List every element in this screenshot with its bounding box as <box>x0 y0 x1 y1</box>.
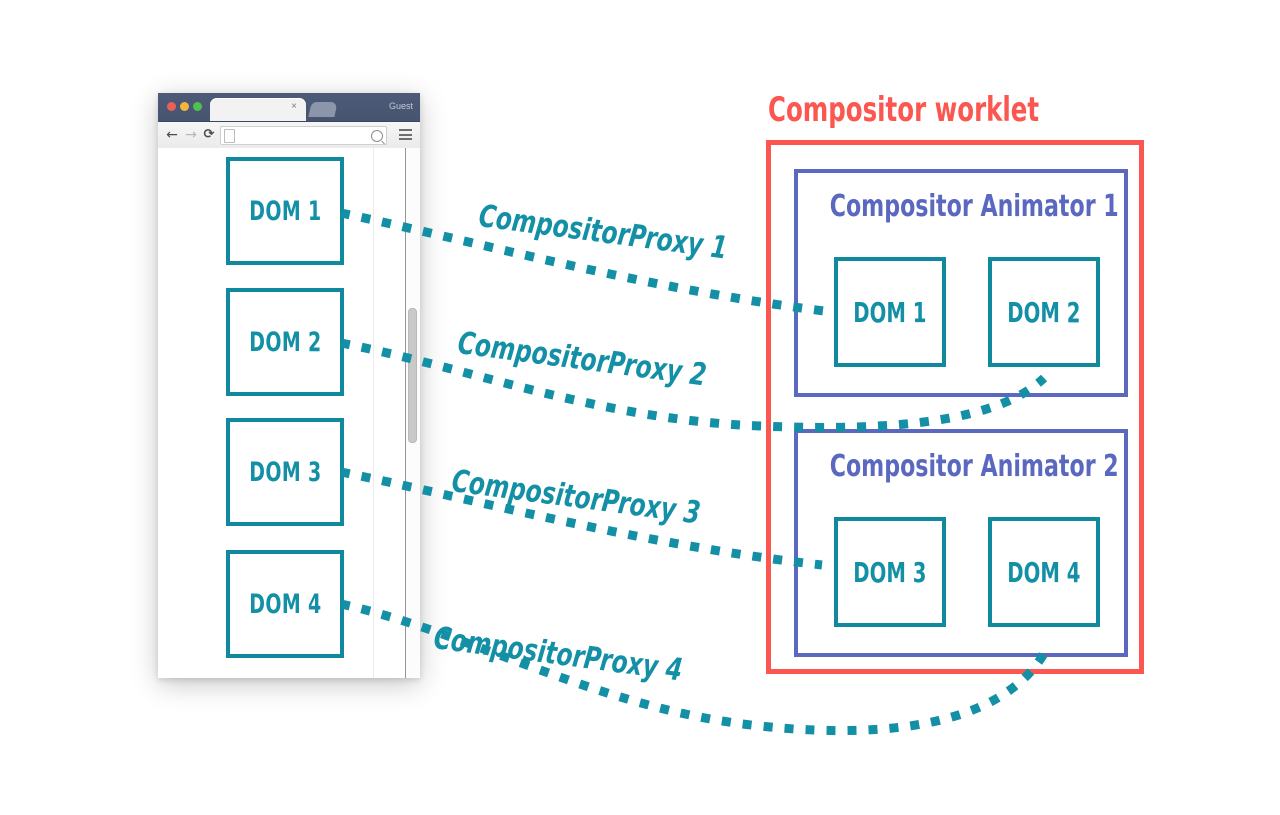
proxy-label-4: CompositorProxy 4 <box>432 620 732 695</box>
proxy-label-2: CompositorProxy 2 <box>456 325 756 400</box>
back-icon[interactable]: ← <box>164 127 180 143</box>
page-dom-box-4[interactable]: DOM 4 <box>226 550 344 658</box>
tab-close-icon[interactable]: × <box>289 102 299 112</box>
animator-1-dom-box-1-label: DOM 1 <box>853 296 926 329</box>
scrollbar-thumb[interactable] <box>408 308 417 443</box>
animator-2-dom-box-3[interactable]: DOM 3 <box>834 517 946 627</box>
worklet-title: Compositor worklet <box>768 90 1039 130</box>
page-dom-box-2[interactable]: DOM 2 <box>226 288 344 396</box>
diagram-canvas: × Guest ← → ⟳ DOM <box>0 0 1280 815</box>
animator-1-dom-box-1[interactable]: DOM 1 <box>834 257 946 367</box>
address-bar[interactable] <box>220 126 387 145</box>
compositor-animator-1-title: Compositor Animator 1 <box>798 189 1124 224</box>
window-minimize-dot[interactable] <box>180 102 189 111</box>
forward-icon[interactable]: → <box>183 127 199 143</box>
proxy-label-1: CompositorProxy 1 <box>477 198 777 273</box>
animator-2-dom-box-3-label: DOM 3 <box>853 556 926 589</box>
page-dom-box-1-label: DOM 1 <box>249 196 321 227</box>
page-dom-box-2-label: DOM 2 <box>249 327 321 358</box>
animator-2-dom-box-4[interactable]: DOM 4 <box>988 517 1100 627</box>
compositor-animator-2-title: Compositor Animator 2 <box>798 449 1124 484</box>
vertical-scrollbar[interactable] <box>406 148 420 678</box>
content-edge-line <box>373 148 374 678</box>
page-dom-box-4-label: DOM 4 <box>249 589 321 620</box>
animator-1-dom-box-2-label: DOM 2 <box>1007 296 1080 329</box>
hamburger-menu-icon[interactable] <box>399 129 412 140</box>
page-dom-box-3-label: DOM 3 <box>249 457 321 488</box>
window-zoom-dot[interactable] <box>193 102 202 111</box>
page-icon <box>224 129 235 143</box>
browser-toolbar: ← → ⟳ <box>158 122 420 149</box>
compositor-animator-2[interactable]: Compositor Animator 2 DOM 3 DOM 4 <box>794 429 1128 657</box>
profile-label[interactable]: Guest <box>389 99 413 113</box>
window-close-dot[interactable] <box>167 102 176 111</box>
browser-tabstrip: × Guest <box>158 93 420 122</box>
compositor-worklet-container: Compositor Animator 1 DOM 1 DOM 2 Compos… <box>766 140 1144 674</box>
compositor-animator-1[interactable]: Compositor Animator 1 DOM 1 DOM 2 <box>794 169 1128 397</box>
page-dom-box-1[interactable]: DOM 1 <box>226 157 344 265</box>
proxy-label-3: CompositorProxy 3 <box>450 463 750 538</box>
search-icon[interactable] <box>371 130 383 142</box>
browser-tab[interactable]: × <box>210 98 306 121</box>
reload-icon[interactable]: ⟳ <box>201 127 217 143</box>
new-tab-button[interactable] <box>308 102 337 117</box>
page-dom-box-3[interactable]: DOM 3 <box>226 418 344 526</box>
animator-1-dom-box-2[interactable]: DOM 2 <box>988 257 1100 367</box>
animator-2-dom-box-4-label: DOM 4 <box>1007 556 1080 589</box>
